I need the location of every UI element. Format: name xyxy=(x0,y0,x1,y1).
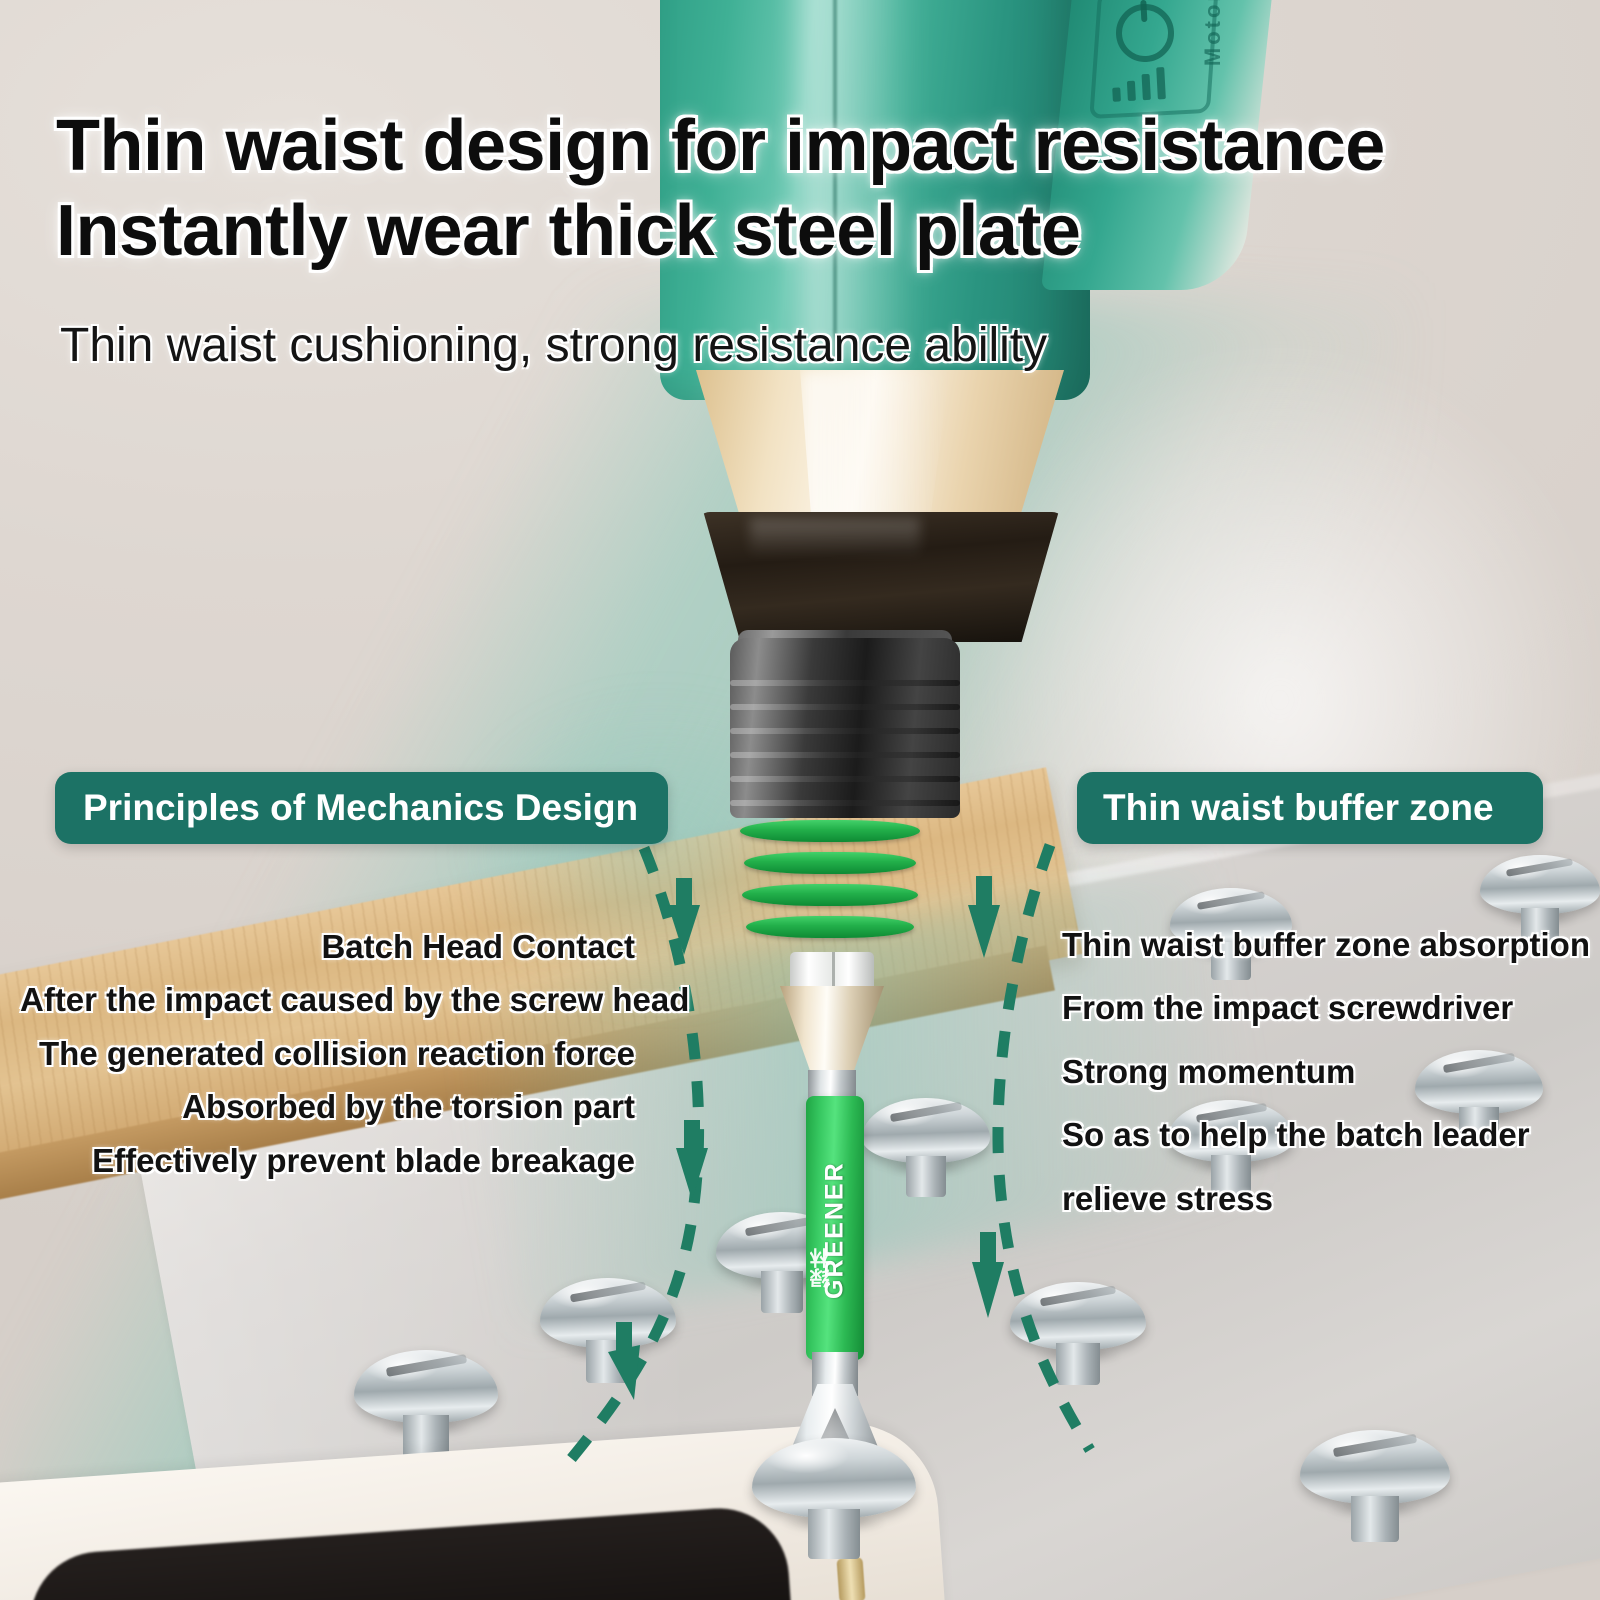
screw xyxy=(354,1350,498,1448)
badge-thin-waist-buffer-zone: Thin waist buffer zone xyxy=(1077,772,1543,844)
battery-bars-icon xyxy=(1111,64,1183,102)
list-item: The generated collision reaction force xyxy=(20,1027,635,1080)
list-item: Batch Head Contact xyxy=(20,920,635,973)
driver-collar-highlight xyxy=(800,370,950,528)
impact-driver: Motor xyxy=(500,0,1240,630)
left-feature-list: Batch Head Contact After the impact caus… xyxy=(20,920,635,1187)
list-item: Absorbed by the torsion part xyxy=(20,1080,635,1133)
subtitle: Thin waist cushioning, strong resistance… xyxy=(60,318,1460,373)
page-title: Thin waist design for impact resistance … xyxy=(56,104,1536,274)
brand-label-cn: 绿林 xyxy=(812,1248,858,1288)
brand-label: GREENER xyxy=(806,1110,864,1350)
screw xyxy=(862,1098,990,1186)
product-infographic: Motor GREENER 绿林 xyxy=(0,0,1600,1600)
torsion-spring xyxy=(740,820,920,960)
list-item: relieve stress xyxy=(1062,1172,1582,1225)
right-feature-list: Thin waist buffer zone absorption From t… xyxy=(1062,918,1582,1235)
list-item: After the impact caused by the screw hea… xyxy=(20,973,635,1026)
list-item: So as to help the batch leader xyxy=(1062,1108,1582,1161)
bit-hex-shank xyxy=(790,952,874,988)
screw xyxy=(1300,1430,1450,1530)
badge-right-label: Thin waist buffer zone xyxy=(1103,787,1494,829)
headline-line-1: Thin waist design for impact resistance xyxy=(56,106,1385,186)
screw-being-driven xyxy=(752,1438,916,1546)
headline-line-2: Instantly wear thick steel plate xyxy=(56,189,1536,274)
panel-label: Motor xyxy=(1200,0,1226,66)
appliance-screw xyxy=(836,1557,865,1600)
list-item: Strong momentum xyxy=(1062,1045,1582,1098)
screw xyxy=(1010,1282,1146,1374)
list-item: Thin waist buffer zone absorption xyxy=(1062,918,1582,971)
list-item: Effectively prevent blade breakage xyxy=(20,1134,635,1187)
list-item: From the impact screwdriver xyxy=(1062,981,1582,1034)
chuck-ridges xyxy=(730,670,960,816)
badge-left-label: Principles of Mechanics Design xyxy=(83,787,638,829)
screw xyxy=(540,1278,676,1372)
driver-dark-ring-highlight xyxy=(750,518,920,558)
badge-principles-of-mechanics-design: Principles of Mechanics Design xyxy=(55,772,668,844)
